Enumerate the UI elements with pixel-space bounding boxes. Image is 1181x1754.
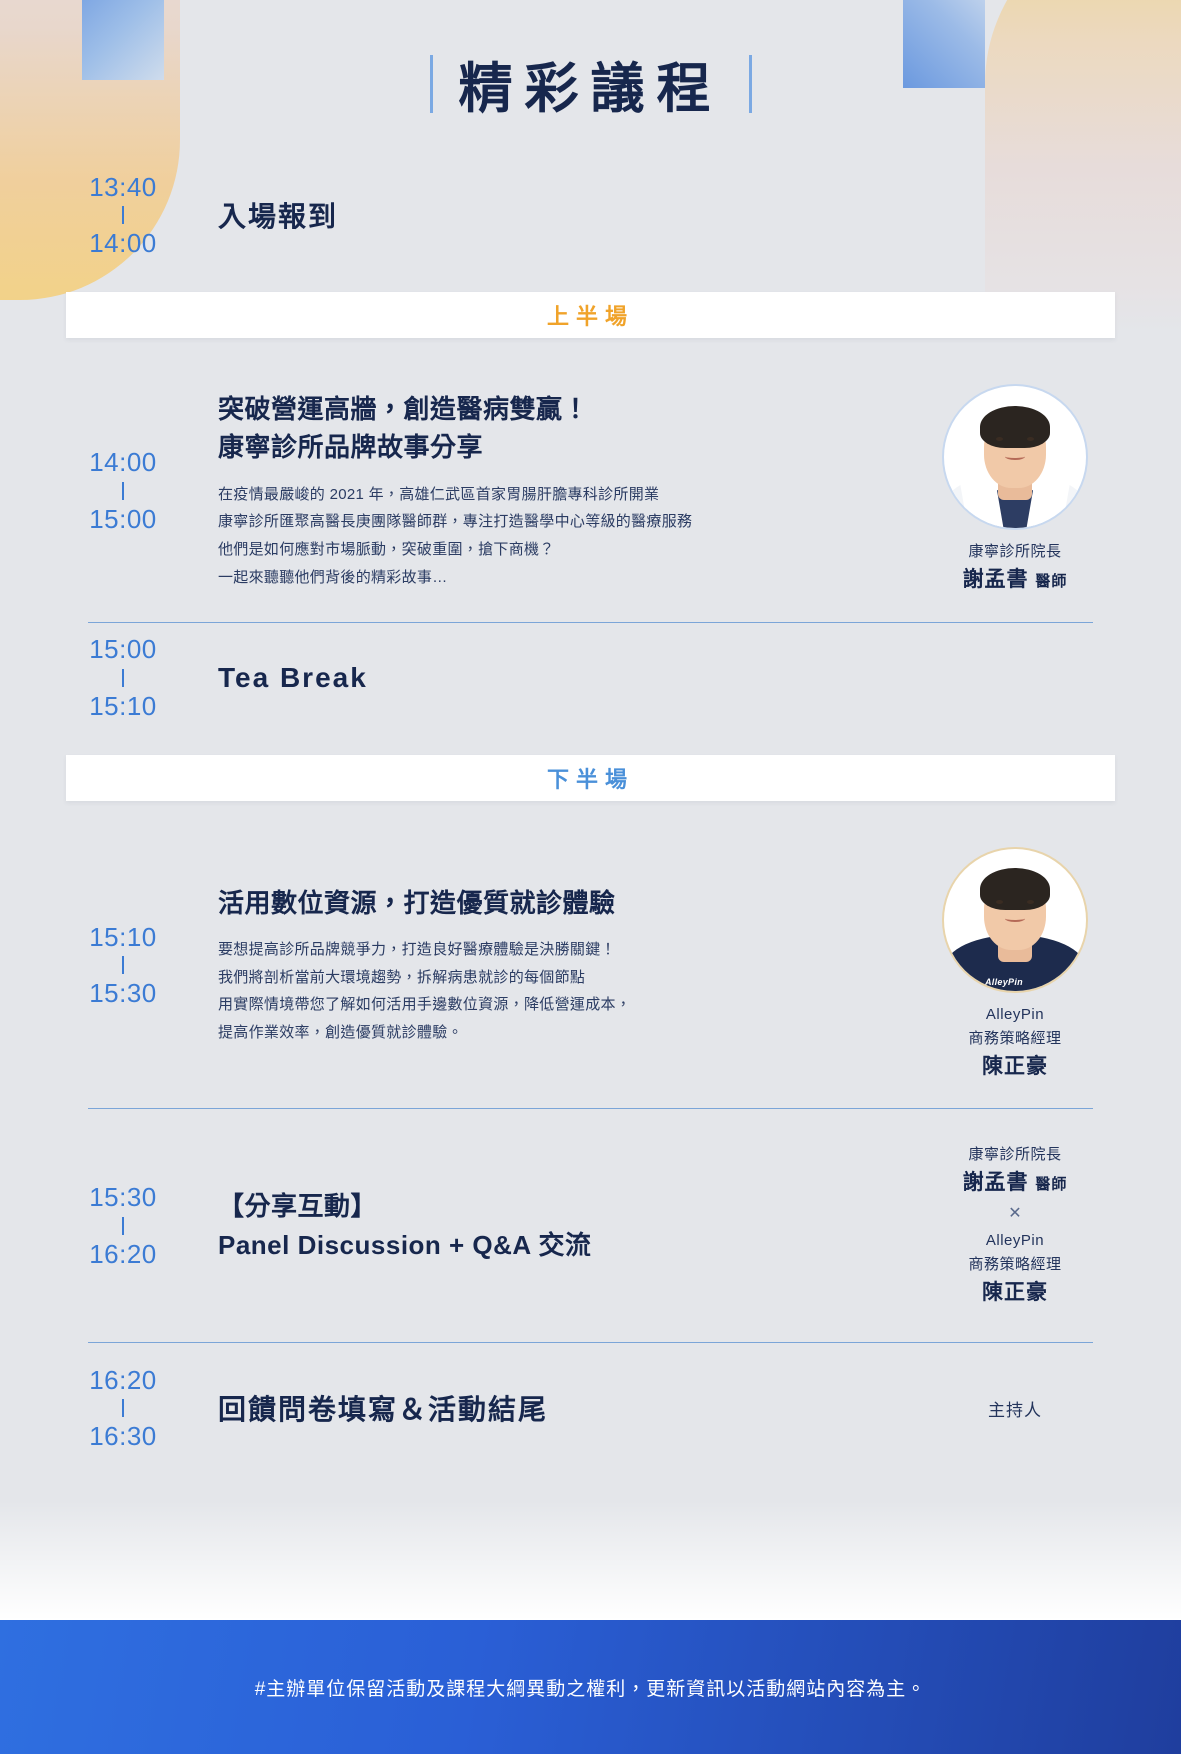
speaker-org: 康寧診所院長 (968, 540, 1061, 564)
description-line-1: 在疫情最嚴峻的 2021 年，高雄仁武區首家胃腸肝膽專科診所開業 (218, 481, 915, 509)
time-end: 16:20 (89, 1238, 157, 1271)
alleypin-logo-text: AlleyPin (985, 977, 1023, 987)
doctor-portrait-avatar (944, 386, 1086, 528)
speaker-block-closing: 主持人 (915, 1396, 1115, 1421)
footer-bar: #主辦單位保留活動及課程大綱異動之權利，更新資訊以活動網站內容為主。 (0, 1620, 1181, 1754)
session-description: 在疫情最嚴峻的 2021 年，高雄仁武區首家胃腸肝膽專科診所開業 康寧診所匯聚高… (218, 481, 915, 592)
session-title: Tea Break (218, 662, 915, 694)
panel-speaker-1-org: 康寧診所院長 (968, 1143, 1061, 1167)
portrait-hair (980, 406, 1050, 448)
time-start: 13:40 (89, 171, 157, 204)
time-start: 15:10 (89, 921, 157, 954)
speaker-block-session-1: 康寧診所院長 謝孟書 醫師 (915, 386, 1115, 596)
footer-note: #主辦單位保留活動及課程大綱異動之權利，更新資訊以活動網站內容為主。 (255, 1674, 927, 1701)
session-title: 突破營運高牆，創造醫病雙贏！ 康寧診所品牌故事分享 (218, 390, 915, 467)
agenda-row-session-2: 15:10 15:30 活用數位資源，打造優質就診體驗 要想提高診所品牌競爭力，… (0, 823, 1181, 1109)
session-title: 【分享互動】 Panel Discussion + Q&A 交流 (218, 1187, 915, 1264)
time-range-closing: 16:20 16:30 (66, 1364, 198, 1453)
session-body-2: 活用數位資源，打造優質就診體驗 要想提高診所品牌競爭力，打造良好醫療體驗是決勝關… (198, 849, 915, 1083)
description-line-1: 要想提高診所品牌競爭力，打造良好醫療體驗是決勝關鍵！ (218, 936, 915, 964)
session-body-tea-break: Tea Break (198, 662, 915, 694)
portrait-illustration (944, 386, 1086, 528)
speaker-block-session-2: AlleyPin AlleyPin 商務策略經理 陳正豪 (915, 849, 1115, 1083)
session-title-line-1: 突破營運高牆，創造醫病雙贏！ (218, 390, 915, 428)
section-band-second-half: 下半場 (66, 755, 1115, 801)
panel-speaker-2-role: 商務策略經理 (968, 1253, 1061, 1277)
speaker-name-suffix: 醫師 (1035, 573, 1067, 590)
description-line-4: 一起來聽聽他們背後的精彩故事… (218, 564, 915, 592)
time-separator-icon (122, 1399, 124, 1417)
time-range-session-2: 15:10 15:30 (66, 849, 198, 1083)
time-end: 15:30 (89, 977, 157, 1010)
portrait-eye-right (1027, 900, 1034, 904)
time-range-panel: 15:30 16:20 (66, 1143, 198, 1308)
time-separator-icon (122, 669, 124, 687)
time-end: 15:00 (89, 503, 157, 536)
title-bracket-left-icon (430, 55, 433, 113)
page-title-text: 精彩議程 (459, 44, 723, 123)
panel-speaker-1-name-suffix: 醫師 (1035, 1176, 1067, 1193)
description-line-2: 康寧診所匯聚高醫長庚團隊醫師群，專注打造醫學中心等級的醫療服務 (218, 508, 915, 536)
time-separator-icon (122, 206, 124, 224)
time-range-session-1: 14:00 15:00 (66, 386, 198, 596)
speaker-host-label: 主持人 (988, 1396, 1042, 1421)
session-title: 活用數位資源，打造優質就診體驗 (218, 884, 915, 922)
session-body-checkin: 入場報到 (198, 195, 915, 235)
section-band-first-half: 上半場 (66, 292, 1115, 338)
speaker-name: 謝孟書 醫師 (963, 564, 1068, 596)
description-line-3: 他們是如何應對市場脈動，突破重圍，搶下商機？ (218, 536, 915, 564)
session-title-line-1: 活用數位資源，打造優質就診體驗 (218, 884, 915, 922)
time-end: 14:00 (89, 227, 157, 260)
agenda-row-tea-break: 15:00 15:10 Tea Break (0, 623, 1181, 733)
session-title: 回饋問卷填寫＆活動結尾 (218, 1388, 915, 1428)
time-separator-icon (122, 1217, 124, 1235)
portrait-eye-left (996, 900, 1003, 904)
time-start: 15:00 (89, 633, 157, 666)
agenda-row-checkin: 13:40 14:00 入場報到 (0, 160, 1181, 270)
agenda-row-session-1: 14:00 15:00 突破營運高牆，創造醫病雙贏！ 康寧診所品牌故事分享 在疫… (0, 360, 1181, 622)
alleypin-portrait-avatar: AlleyPin (944, 849, 1086, 991)
agenda-row-panel: 15:30 16:20 【分享互動】 Panel Discussion + Q&… (0, 1109, 1181, 1342)
speaker-role: 商務策略經理 (968, 1027, 1061, 1051)
time-start: 16:20 (89, 1364, 157, 1397)
description-line-3: 用實際情境帶您了解如何活用手邊數位資源，降低營運成本， (218, 991, 915, 1019)
session-title-line-2: 康寧診所品牌故事分享 (218, 428, 915, 466)
time-start: 15:30 (89, 1181, 157, 1214)
panel-speaker-2-org: AlleyPin (986, 1229, 1044, 1253)
speaker-name-text: 謝孟書 (963, 568, 1029, 591)
speaker-org: AlleyPin (986, 1003, 1044, 1027)
description-line-4: 提高作業效率，創造優質就診體驗。 (218, 1019, 915, 1047)
session-body-closing: 回饋問卷填寫＆活動結尾 (198, 1388, 915, 1428)
cross-symbol-icon: ✕ (1008, 1199, 1021, 1229)
panel-speaker-2-name: 陳正豪 (982, 1277, 1048, 1309)
time-range-checkin: 13:40 14:00 (66, 171, 198, 260)
time-separator-icon (122, 482, 124, 500)
agenda-row-closing: 16:20 16:30 回饋問卷填寫＆活動結尾 主持人 (0, 1343, 1181, 1473)
portrait-mouth (1005, 453, 1025, 460)
session-body-panel: 【分享互動】 Panel Discussion + Q&A 交流 (198, 1143, 915, 1308)
session-title-line-2: Panel Discussion + Q&A 交流 (218, 1226, 915, 1264)
session-body-1: 突破營運高牆，創造醫病雙贏！ 康寧診所品牌故事分享 在疫情最嚴峻的 2021 年… (198, 386, 915, 596)
speaker-block-panel: 康寧診所院長 謝孟書 醫師 ✕ AlleyPin 商務策略經理 陳正豪 (915, 1143, 1115, 1308)
panel-speaker-1-name-text: 謝孟書 (963, 1171, 1029, 1194)
page-title: 精彩議程 (0, 0, 1181, 160)
time-range-tea-break: 15:00 15:10 (66, 633, 198, 722)
time-end: 15:10 (89, 690, 157, 723)
title-bracket-right-icon (749, 55, 752, 113)
agenda-list: 13:40 14:00 入場報到 上半場 14:00 15:00 突破營運高牆，… (0, 160, 1181, 1473)
portrait-hair (980, 868, 1050, 910)
bottom-fade-overlay (0, 1500, 1181, 1620)
session-description: 要想提高診所品牌競爭力，打造良好醫療體驗是決勝關鍵！ 我們將剖析當前大環境趨勢，… (218, 936, 915, 1047)
session-title: 入場報到 (218, 195, 915, 235)
description-line-2: 我們將剖析當前大環境趨勢，拆解病患就診的每個節點 (218, 964, 915, 992)
time-end: 16:30 (89, 1420, 157, 1453)
time-start: 14:00 (89, 446, 157, 479)
section-band-label: 下半場 (547, 762, 634, 794)
time-separator-icon (122, 956, 124, 974)
portrait-illustration: AlleyPin (944, 849, 1086, 991)
session-title-line-1: 【分享互動】 (218, 1187, 915, 1225)
speaker-name: 陳正豪 (982, 1051, 1048, 1083)
section-band-label: 上半場 (547, 299, 634, 331)
panel-speaker-1-name: 謝孟書 醫師 (963, 1167, 1068, 1199)
